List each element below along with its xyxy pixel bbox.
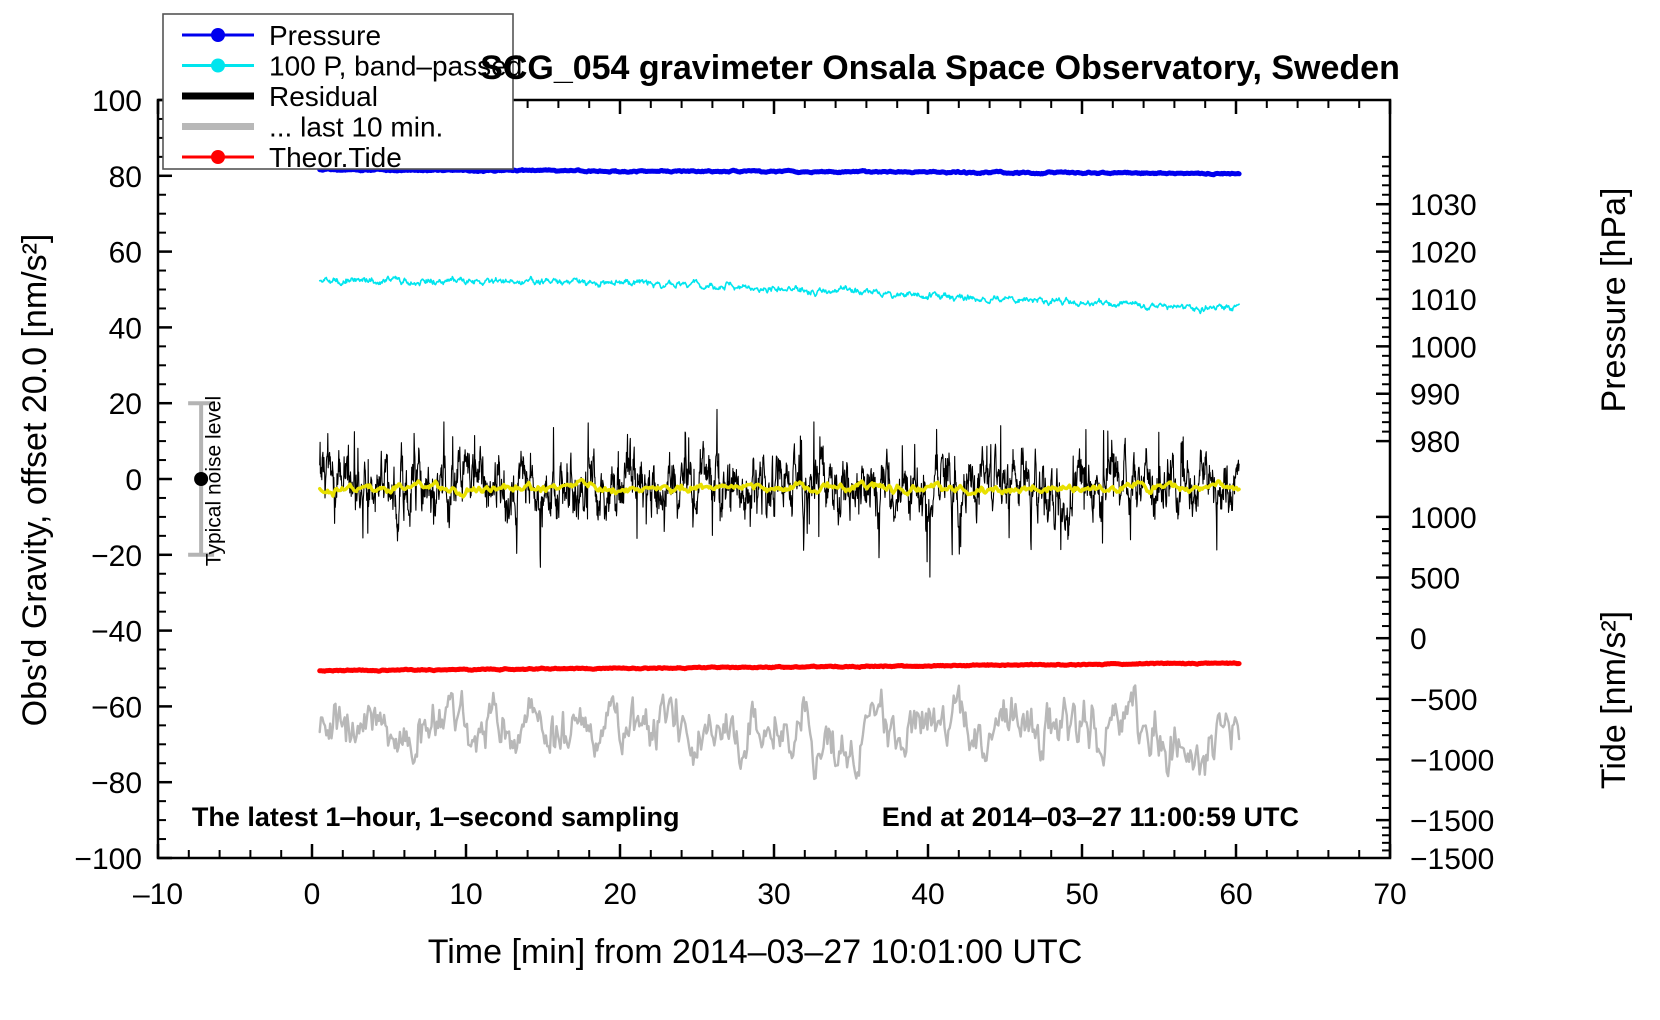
y-tick-label: −60 [91, 691, 142, 724]
chart-title: SCG_054 gravimeter Onsala Space Observat… [480, 49, 1400, 87]
y-tick-label: 40 [109, 312, 142, 345]
legend-item-label[interactable]: Theor.Tide [269, 142, 402, 173]
pressure-axis-tick-label: 1000 [1410, 331, 1477, 364]
x-axis-title: Time [min] from 2014‒03‒27 10:01:00 UTC [428, 933, 1083, 971]
y-tick-label: 0 [125, 464, 142, 497]
legend-item-label[interactable]: Residual [269, 81, 378, 112]
y-tick-label: −40 [91, 616, 142, 649]
pressure-axis-tick-label: 1030 [1410, 189, 1477, 222]
pressure-axis-tick-label: 1020 [1410, 237, 1477, 270]
y-tick-label: −100 [74, 843, 142, 876]
pressure-axis-tick-label: 1010 [1410, 284, 1477, 317]
x-tick-label: 30 [757, 878, 790, 911]
gravimeter-time-series-chart: ‒10010203040506070−100−80−60−40−20020406… [0, 0, 1660, 1020]
x-tick-label: 10 [449, 878, 482, 911]
legend-swatch-dot [211, 150, 225, 164]
y-axis-title-pressure: Pressure [hPa] [1595, 188, 1633, 413]
x-tick-label: 50 [1065, 878, 1098, 911]
noise-level-label: Typical noise level [202, 396, 225, 566]
x-tick-label: 20 [603, 878, 636, 911]
y-tick-label: −80 [91, 767, 142, 800]
pressure-axis-tick-label: 980 [1410, 426, 1460, 459]
tide-axis-tick-label: −500 [1410, 684, 1478, 717]
legend-swatch-dot [211, 59, 225, 73]
tide-axis-tick-label: 1000 [1410, 502, 1477, 535]
legend-item-label[interactable]: ... last 10 min. [269, 112, 443, 143]
y-tick-label: 80 [109, 161, 142, 194]
x-tick-label: 0 [304, 878, 321, 911]
tide-axis-tick-label: 500 [1410, 563, 1460, 596]
legend-item-label[interactable]: Pressure [269, 20, 381, 51]
plot-canvas: ‒10010203040506070−100−80−60−40−20020406… [0, 0, 1660, 1020]
y-axis-title-left: Obs'd Gravity, offset 20.0 [nm/s²] [16, 234, 54, 727]
legend-swatch-dot [211, 28, 225, 42]
legend-box[interactable]: Pressure100 P, band‒passedResidual... la… [163, 14, 522, 173]
y-tick-label: −20 [91, 540, 142, 573]
bottom-left-note: The latest 1‒hour, 1‒second sampling [192, 802, 680, 832]
tide-axis-tick-label: 0 [1410, 623, 1427, 656]
x-tick-label: 70 [1373, 878, 1406, 911]
bottom-right-note: End at 2014‒03‒27 11:00:59 UTC [882, 802, 1299, 832]
y-axis-title-tide: Tide [nm/s²] [1595, 611, 1633, 789]
tide-axis-tick-label: −1000 [1410, 744, 1494, 777]
x-tick-label: ‒10 [133, 878, 183, 911]
y-tick-label: 100 [92, 85, 142, 118]
x-tick-label: 40 [911, 878, 944, 911]
y-tick-label: 60 [109, 237, 142, 270]
tide-axis-tick-label: −1500 [1410, 805, 1494, 838]
x-tick-label: 60 [1219, 878, 1252, 911]
pressure-axis-tick-label: 990 [1410, 379, 1460, 412]
y-tick-label: 20 [109, 388, 142, 421]
tide-axis-tick-label: −1500 [1410, 843, 1494, 876]
